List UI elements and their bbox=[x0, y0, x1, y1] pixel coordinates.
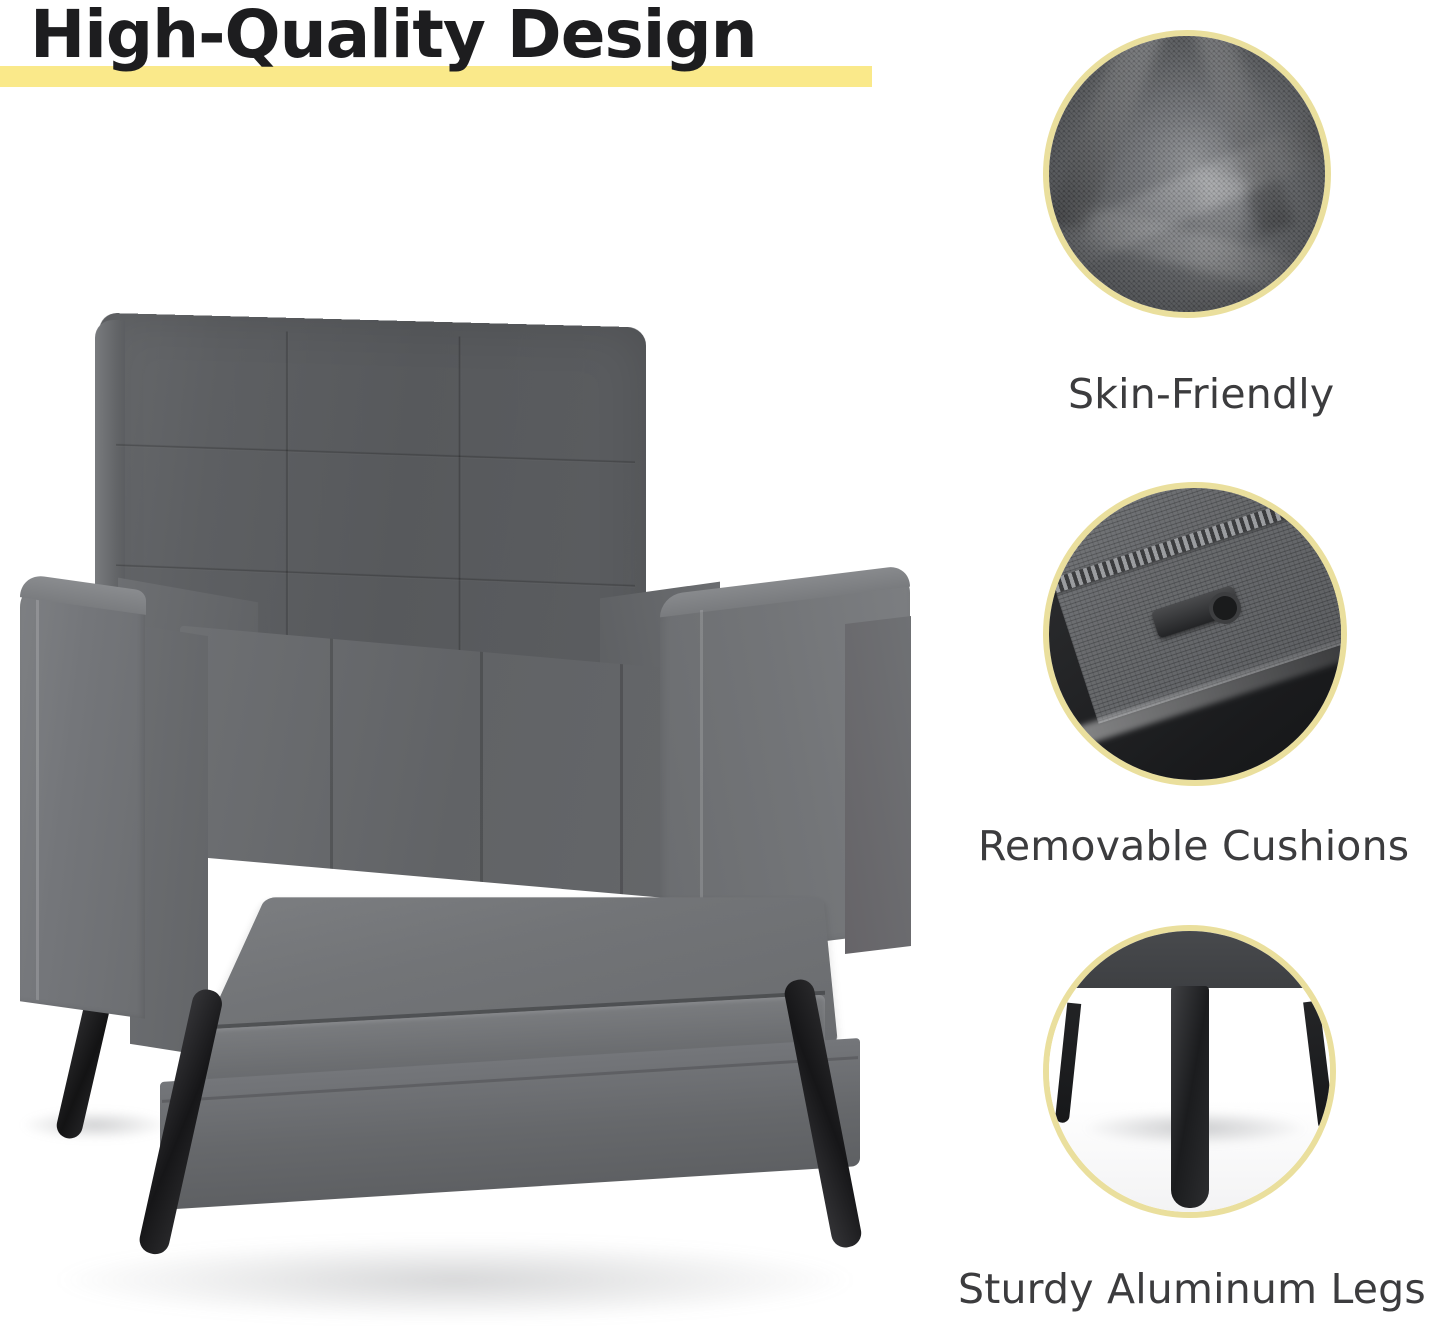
headline-block: High-Quality Design bbox=[0, 0, 900, 100]
chair-inner-back-panel bbox=[180, 626, 740, 905]
chair-underside bbox=[1043, 925, 1336, 988]
leg-floor-shadow bbox=[20, 1110, 170, 1140]
feature-caption-skin-friendly: Skin-Friendly bbox=[1068, 370, 1334, 418]
page-title: High-Quality Design bbox=[30, 0, 757, 73]
chair-underside-stitch bbox=[1156, 925, 1165, 933]
feature-caption-removable-cushions: Removable Cushions bbox=[978, 822, 1409, 870]
chair-left-armrest-seam bbox=[36, 600, 39, 1000]
zipper-closeup-circle bbox=[1043, 482, 1347, 786]
product-marketing-image: High-Quality Design bbox=[0, 0, 1445, 1326]
leg-closeup-circle bbox=[1043, 925, 1336, 1218]
chair-right-armrest-face bbox=[845, 616, 911, 954]
fabric-closeup-circle bbox=[1043, 30, 1331, 318]
fabric-weave-pattern bbox=[1049, 36, 1325, 312]
aluminum-leg bbox=[1171, 986, 1209, 1208]
floor-shadow bbox=[60, 1240, 850, 1320]
feature-caption-sturdy-aluminum-legs: Sturdy Aluminum Legs bbox=[958, 1265, 1426, 1313]
product-chair-image bbox=[0, 290, 960, 1300]
